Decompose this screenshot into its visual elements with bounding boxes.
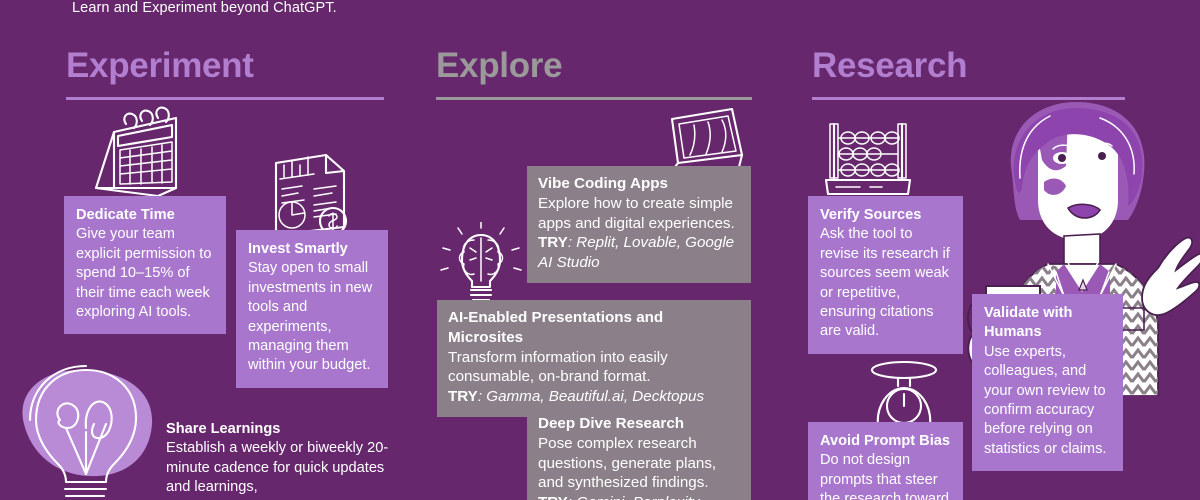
column-title-experiment: Experiment [66, 48, 384, 83]
card-title: Deep Dive Research [538, 414, 740, 434]
card-dedicate-time: Dedicate Time Give your team explicit pe… [64, 196, 226, 334]
column-header-experiment: Experiment [66, 48, 384, 100]
try-tools: : Replit, Lovable, Google AI Studio [538, 234, 734, 271]
card-vibe-coding-apps: Vibe Coding Apps Explore how to create s… [527, 166, 751, 283]
card-title: Verify Sources [820, 206, 951, 225]
card-deep-dive-research: Deep Dive Research Pose complex research… [527, 406, 751, 500]
column-header-research: Research [812, 48, 1125, 100]
card-share-learnings: Share Learnings Establish a weekly or bi… [166, 420, 398, 498]
card-title: Validate with Humans [984, 304, 1111, 343]
infographic-canvas: Learn and Experiment beyond ChatGPT. [0, 0, 1200, 500]
column-rule-research [812, 97, 1125, 100]
abacus-icon [820, 112, 916, 200]
card-avoid-prompt-bias: Avoid Prompt Bias Do not design prompts … [808, 422, 963, 500]
card-title: Vibe Coding Apps [538, 174, 740, 194]
card-try-line: TRY: Gemini, Perplexity [538, 493, 740, 500]
try-tools: : Gamma, Beautiful.ai, Decktopus [478, 388, 704, 405]
card-body: Pose complex research questions, generat… [538, 434, 740, 493]
card-body: Stay open to small investments in new to… [248, 259, 376, 375]
lightbulb-icon [2, 362, 172, 500]
card-try-line: TRY: Gamma, Beautiful.ai, Decktopus [448, 387, 740, 407]
card-body: Use experts, colleagues, and your own re… [984, 343, 1111, 459]
card-title: Share Learnings [166, 420, 398, 439]
card-try-line: TRY: Replit, Lovable, Google AI Studio [538, 233, 740, 273]
card-body: Explore how to create simple apps and di… [538, 194, 740, 234]
financial-report-icon [258, 143, 358, 243]
column-title-research: Research [812, 48, 1125, 83]
card-body: Give your team explicit permission to sp… [76, 225, 214, 322]
card-body: Ask the tool to revise its research if s… [820, 225, 951, 341]
card-body: Transform information into easily consum… [448, 348, 740, 388]
card-title: Invest Smartly [248, 240, 376, 259]
card-title: Avoid Prompt Bias [820, 432, 951, 451]
column-rule-explore [436, 97, 752, 100]
try-label: TRY [538, 234, 568, 251]
card-body: Establish a weekly or biweekly 20-minute… [166, 439, 398, 497]
card-validate-with-humans: Validate with Humans Use experts, collea… [972, 294, 1123, 471]
column-rule-experiment [66, 97, 384, 100]
desk-calendar-icon [88, 106, 192, 202]
card-title: Dedicate Time [76, 206, 214, 225]
balance-scale-icon [862, 358, 946, 432]
try-label: TRY [538, 494, 568, 500]
card-verify-sources: Verify Sources Ask the tool to revise it… [808, 196, 963, 354]
column-title-explore: Explore [436, 48, 752, 83]
brain-lightbulb-icon [438, 222, 524, 308]
card-title: AI-Enabled Presentations and Microsites [448, 308, 740, 348]
card-body: Do not design prompts that steer the res… [820, 451, 951, 500]
try-tools: : Gemini, Perplexity [568, 494, 700, 500]
column-header-explore: Explore [436, 48, 752, 100]
card-ai-enabled-presentations: AI-Enabled Presentations and Microsites … [437, 300, 751, 417]
card-invest-smartly: Invest Smartly Stay open to small invest… [236, 230, 388, 388]
try-label: TRY [448, 388, 478, 405]
subtitle: Learn and Experiment beyond ChatGPT. [72, 0, 337, 16]
